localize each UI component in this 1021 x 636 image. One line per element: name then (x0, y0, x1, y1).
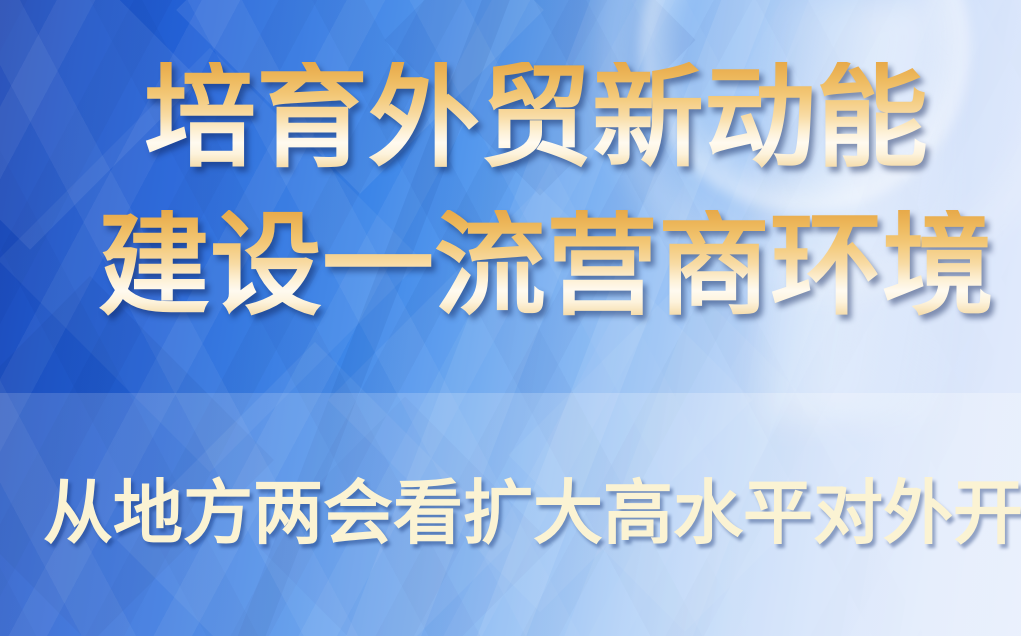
headline-line-1: 培育外贸新动能 (144, 62, 928, 174)
subheadline: 从地方两会看扩大高水平对外开放 (43, 476, 1021, 550)
headline-line-2: 建设一流营商环境 (98, 210, 994, 322)
text-layer: 培育外贸新动能 建设一流营商环境 从地方两会看扩大高水平对外开放 (0, 0, 1021, 636)
poster-canvas: 培育外贸新动能 建设一流营商环境 从地方两会看扩大高水平对外开放 (0, 0, 1021, 636)
